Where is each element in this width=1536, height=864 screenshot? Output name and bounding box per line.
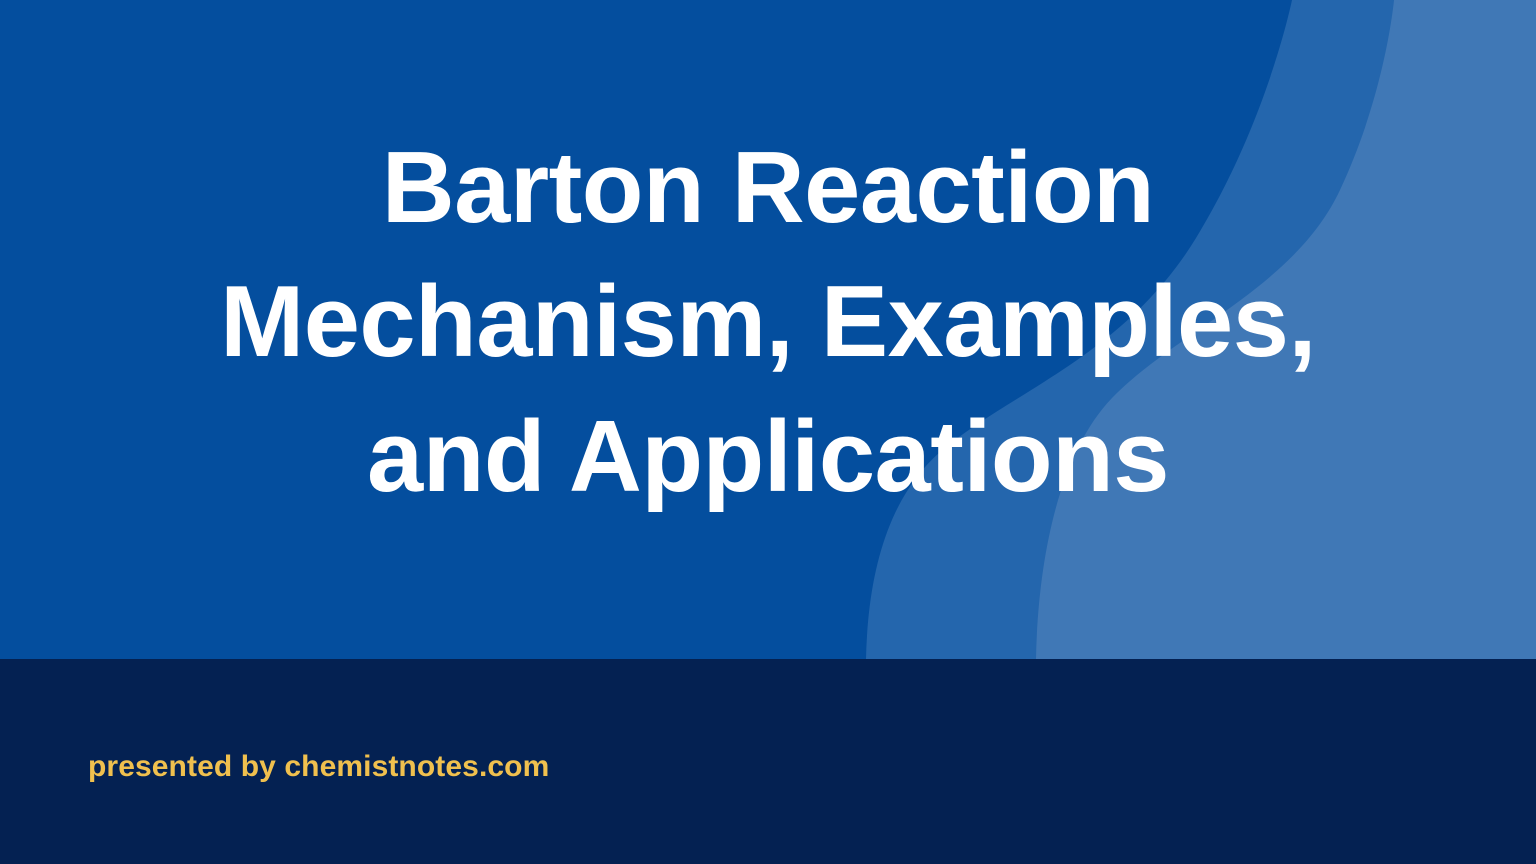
title-line-3: and Applications xyxy=(220,390,1316,524)
title-block: Barton Reaction Mechanism, Examples, and… xyxy=(0,0,1536,659)
title-line-2: Mechanism, Examples, xyxy=(220,255,1316,389)
title-slide: Barton Reaction Mechanism, Examples, and… xyxy=(0,0,1536,864)
title-line-1: Barton Reaction xyxy=(220,121,1316,255)
slide-stage: Barton Reaction Mechanism, Examples, and… xyxy=(0,0,1536,659)
page-title: Barton Reaction Mechanism, Examples, and… xyxy=(220,121,1316,524)
presented-by-credit: presented by chemistnotes.com xyxy=(88,748,549,786)
